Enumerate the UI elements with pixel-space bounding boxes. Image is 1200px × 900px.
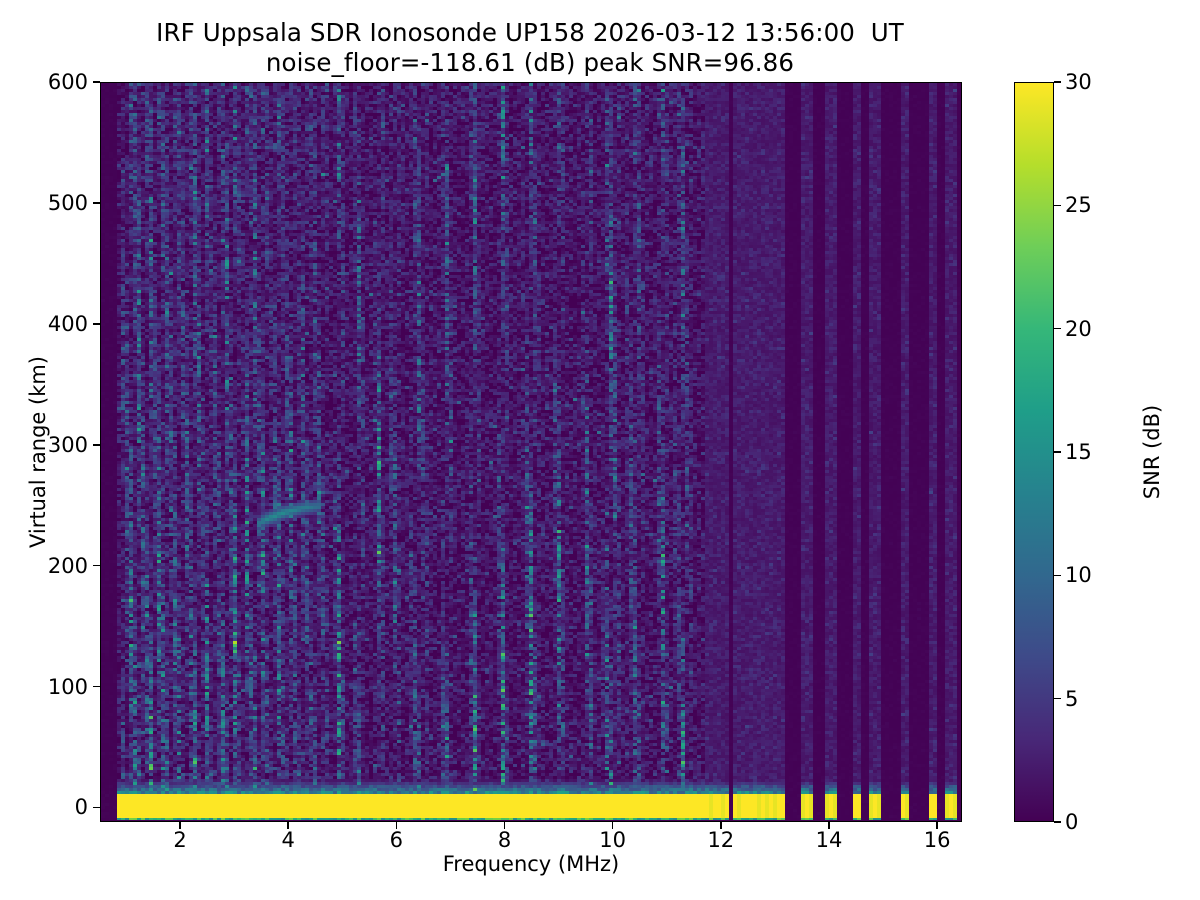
y-tick-label: 200 bbox=[28, 554, 88, 578]
colorbar-tick-label: 25 bbox=[1065, 193, 1092, 217]
ionogram-heatmap-canvas bbox=[101, 83, 960, 820]
colorbar bbox=[1014, 82, 1054, 822]
colorbar-tick-mark bbox=[1054, 81, 1061, 83]
x-tick-label: 6 bbox=[361, 828, 431, 852]
colorbar-tick-mark bbox=[1054, 575, 1061, 577]
y-tick-label: 0 bbox=[28, 795, 88, 819]
y-tick-mark bbox=[93, 202, 100, 204]
y-tick-mark bbox=[93, 323, 100, 325]
y-tick-mark bbox=[93, 444, 100, 446]
y-tick-label: 100 bbox=[28, 675, 88, 699]
colorbar-tick-mark bbox=[1054, 451, 1061, 453]
x-tick-label: 16 bbox=[902, 828, 972, 852]
colorbar-tick-mark bbox=[1054, 821, 1061, 823]
colorbar-tick-label: 15 bbox=[1065, 440, 1092, 464]
y-tick-label: 300 bbox=[28, 433, 88, 457]
colorbar-gradient bbox=[1015, 83, 1053, 821]
y-tick-mark bbox=[93, 81, 100, 83]
colorbar-label: SNR (dB) bbox=[1140, 82, 1164, 822]
x-tick-label: 8 bbox=[470, 828, 540, 852]
y-tick-mark bbox=[93, 565, 100, 567]
x-tick-label: 4 bbox=[253, 828, 323, 852]
ionogram-figure: IRF Uppsala SDR Ionosonde UP158 2026-03-… bbox=[0, 0, 1200, 900]
ionogram-plot-area bbox=[100, 82, 962, 822]
colorbar-tick-label: 5 bbox=[1065, 687, 1078, 711]
figure-title-block: IRF Uppsala SDR Ionosonde UP158 2026-03-… bbox=[0, 18, 1060, 79]
y-tick-mark bbox=[93, 807, 100, 809]
colorbar-tick-label: 20 bbox=[1065, 317, 1092, 341]
x-tick-label: 10 bbox=[578, 828, 648, 852]
colorbar-tick-label: 0 bbox=[1065, 810, 1078, 834]
x-axis-label: Frequency (MHz) bbox=[100, 852, 962, 876]
colorbar-tick-mark bbox=[1054, 698, 1061, 700]
y-tick-mark bbox=[93, 686, 100, 688]
x-tick-label: 14 bbox=[794, 828, 864, 852]
y-tick-label: 400 bbox=[28, 312, 88, 336]
y-tick-label: 500 bbox=[28, 191, 88, 215]
x-tick-label: 12 bbox=[686, 828, 756, 852]
title-line-primary: IRF Uppsala SDR Ionosonde UP158 2026-03-… bbox=[0, 18, 1060, 48]
x-tick-label: 2 bbox=[145, 828, 215, 852]
title-line-secondary: noise_floor=-118.61 (dB) peak SNR=96.86 bbox=[0, 48, 1060, 78]
colorbar-tick-label: 10 bbox=[1065, 563, 1092, 587]
colorbar-tick-label: 30 bbox=[1065, 70, 1092, 94]
y-tick-label: 600 bbox=[28, 70, 88, 94]
colorbar-tick-mark bbox=[1054, 328, 1061, 330]
colorbar-tick-mark bbox=[1054, 205, 1061, 207]
